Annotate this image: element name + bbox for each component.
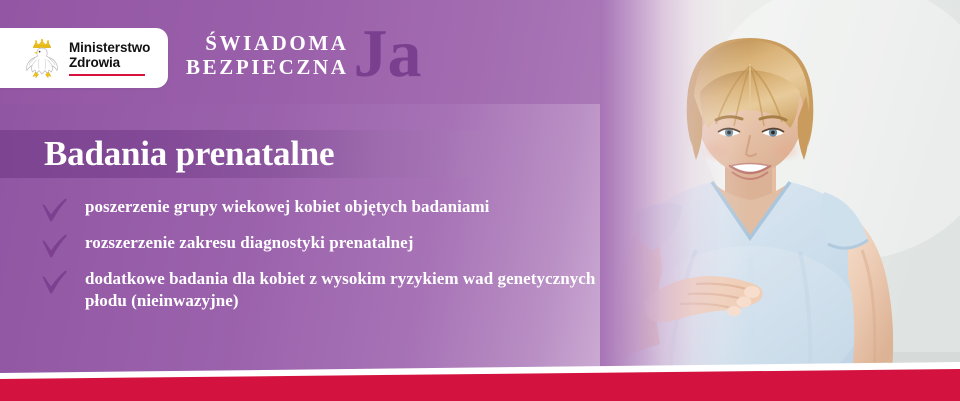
red-stripe: [0, 361, 960, 401]
list-item-label: dodatkowe badania dla kobiet z wysokim r…: [85, 268, 600, 312]
title-band: Badania prenatalne: [0, 130, 506, 178]
benefits-list: poszerzenie grupy wiekowej kobiet objęty…: [40, 196, 600, 321]
ministry-logo: Ministerstwo Zdrowia: [0, 28, 168, 88]
ministry-name-line2: Zdrowia: [69, 55, 150, 70]
list-item: dodatkowe badania dla kobiet z wysokim r…: [40, 268, 600, 312]
check-icon: [40, 233, 70, 259]
list-item: rozszerzenie zakresu diagnostyki prenata…: [40, 232, 600, 259]
pregnant-woman-photo: [600, 0, 960, 372]
ministry-red-rule: [69, 74, 145, 77]
page-title: Badania prenatalne: [44, 135, 334, 173]
slogan-line-swiadoma: ŚWIADOMA: [205, 31, 348, 55]
slogan-line-bezpieczna: BEZPIECZNA: [186, 55, 349, 79]
ministry-name-line1: Ministerstwo: [69, 40, 150, 55]
campaign-slogan: ŚWIADOMA BEZPIECZNA: [186, 31, 349, 79]
list-item-label: rozszerzenie zakresu diagnostyki prenata…: [85, 232, 413, 254]
list-item: poszerzenie grupy wiekowej kobiet objęty…: [40, 196, 600, 223]
campaign-banner: Ministerstwo Zdrowia ŚWIADOMA BEZPIECZNA…: [0, 0, 960, 401]
list-item-label: poszerzenie grupy wiekowej kobiet objęty…: [85, 196, 489, 218]
check-icon: [40, 197, 70, 223]
campaign-lockup: ŚWIADOMA BEZPIECZNA Ja: [186, 24, 422, 86]
polish-eagle-emblem: [22, 37, 62, 79]
check-icon: [40, 269, 70, 295]
campaign-wordmark-ja: Ja: [354, 22, 422, 84]
